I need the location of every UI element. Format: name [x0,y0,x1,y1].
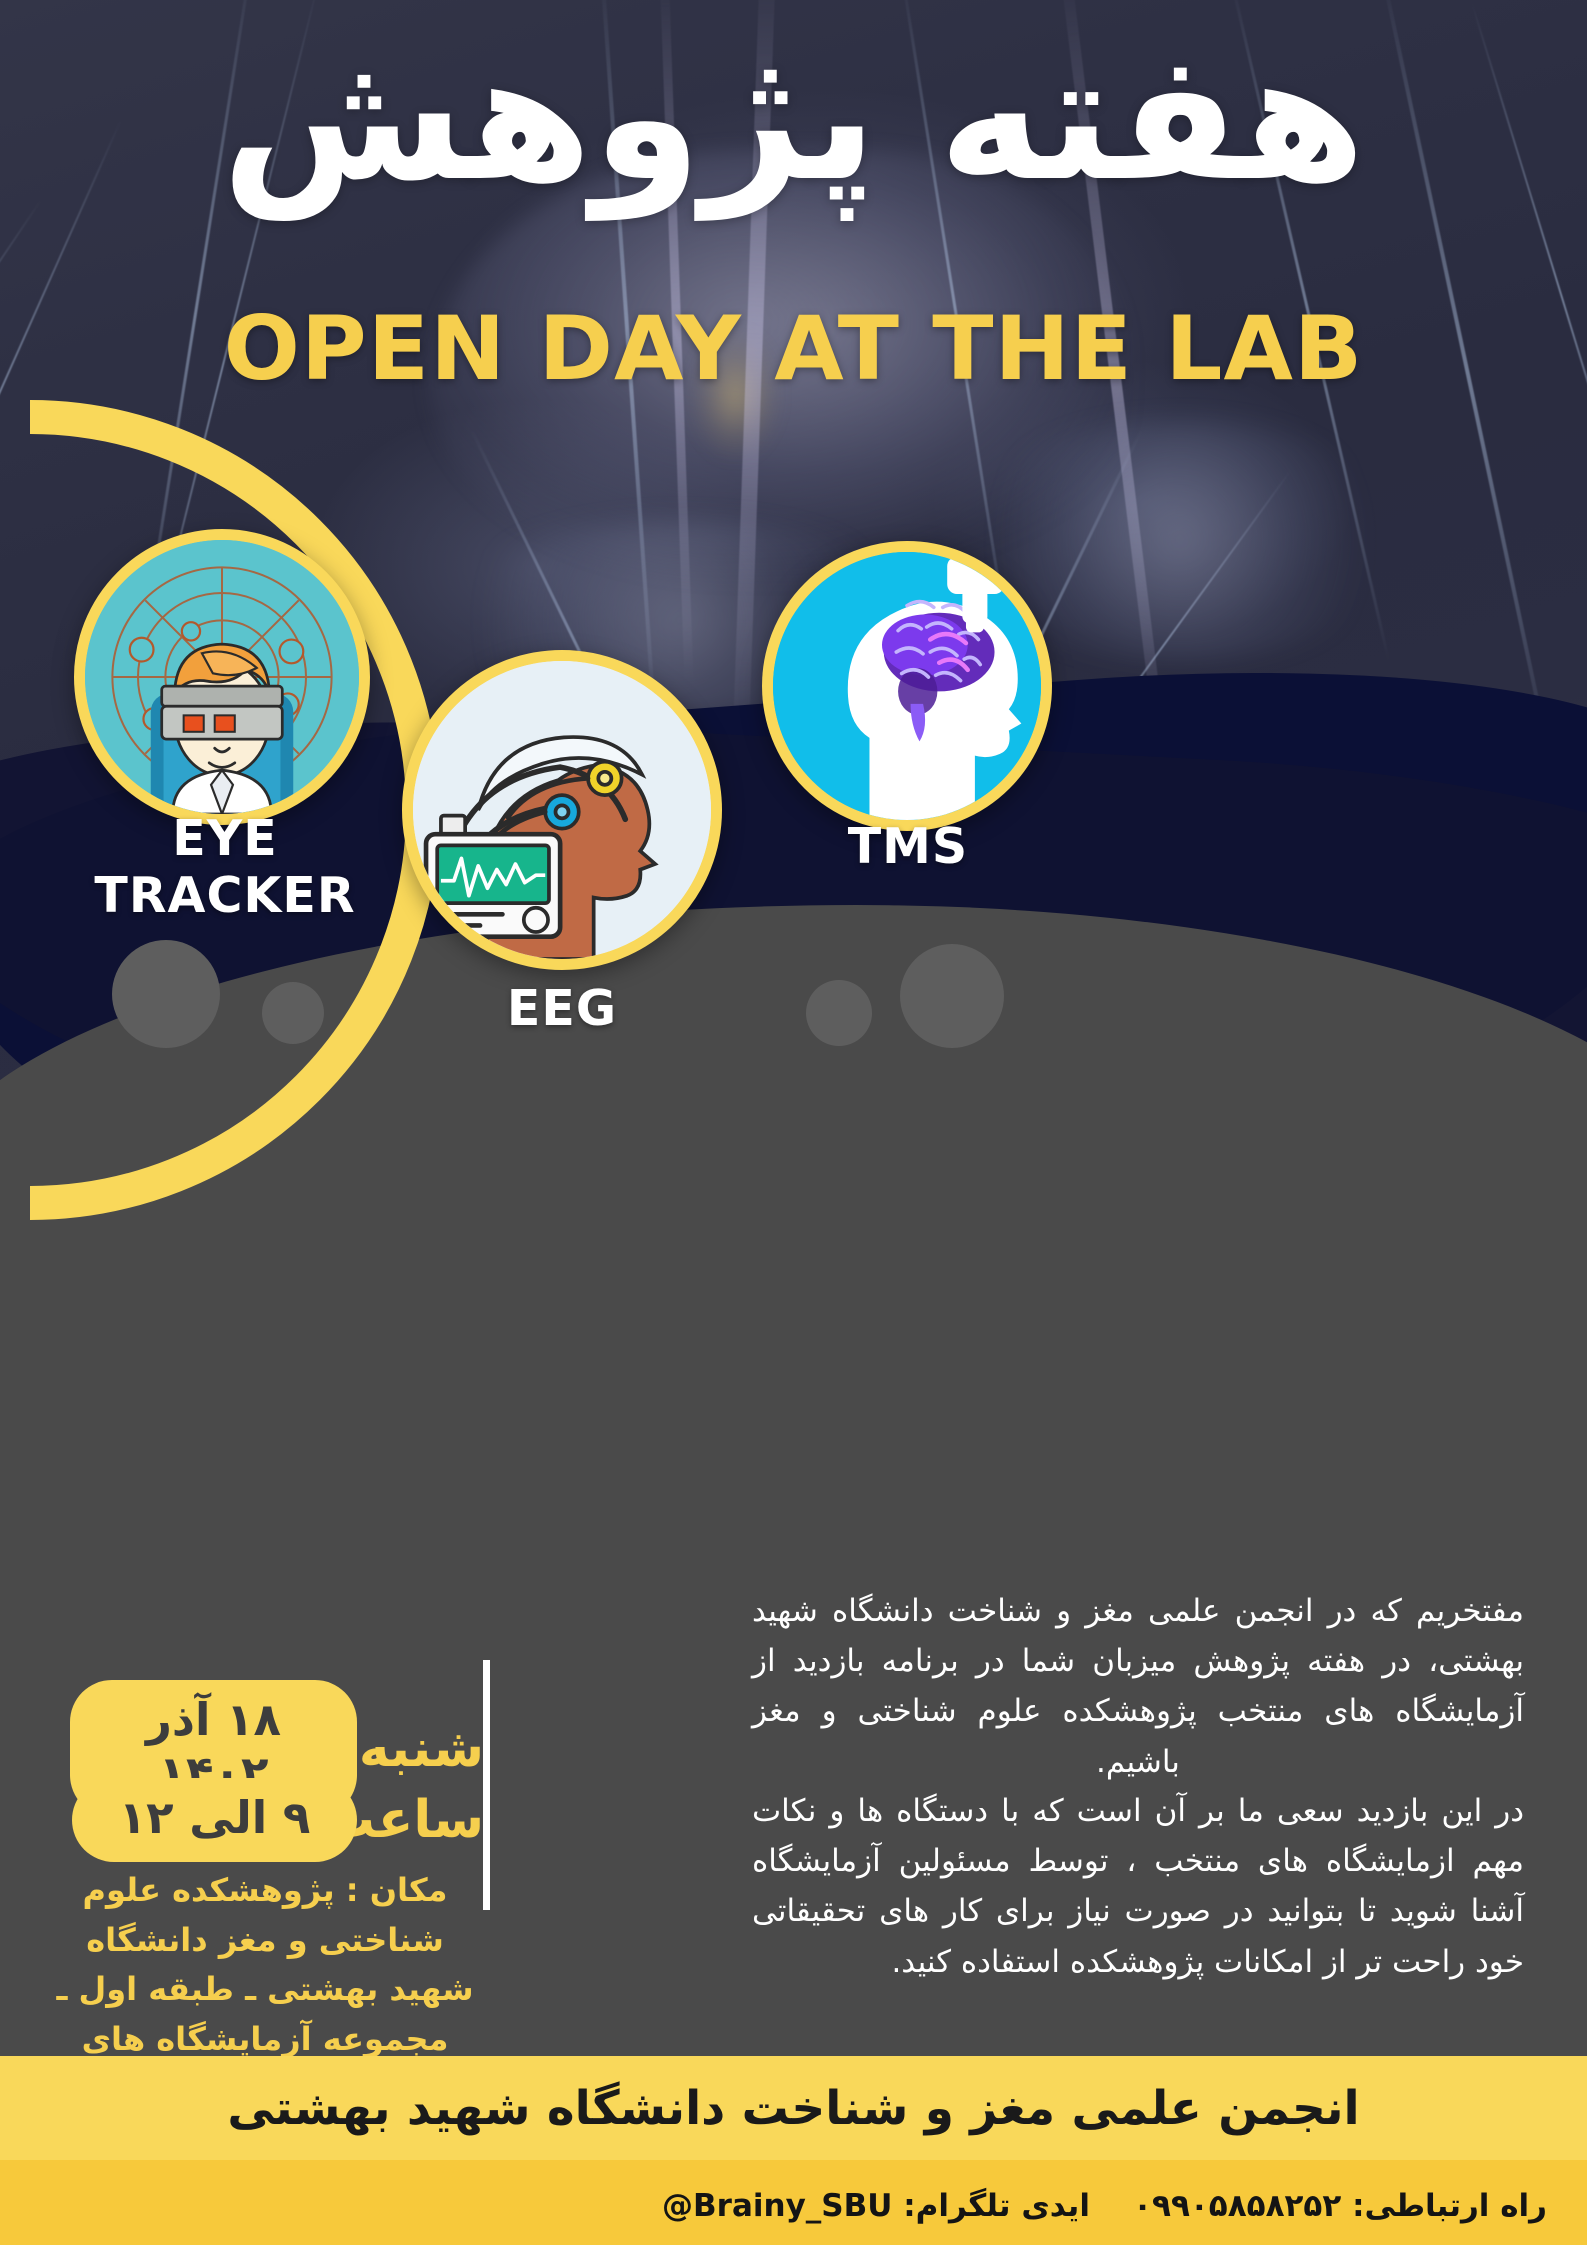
telegram-handle[interactable]: @Brainy_SBU [662,2188,892,2224]
eeg-icon [413,661,711,959]
footer-organization-text: انجمن علمی مغز و شناخت دانشگاه شهید بهشت… [227,2081,1359,2136]
page-title-fa: هفته پژوهش [0,26,1587,211]
bokeh-circle [900,944,1004,1048]
device-label-tms: TMS [762,818,1054,875]
device-circle-tms[interactable] [762,541,1052,831]
description-paragraph-1: مفتخریم که در انجمن علمی مغز و شناخت دان… [752,1586,1524,1787]
eye-tracker-icon [85,540,359,814]
page-subtitle-en: OPEN DAY AT THE LAB [0,305,1587,393]
device-circle-eye-tracker[interactable] [74,529,370,825]
bokeh-circle [112,940,220,1048]
description-paragraph-2: در این بازدید سعی ما بر آن است که با دست… [752,1786,1524,1987]
device-circle-eeg[interactable] [402,650,722,970]
bokeh-circle [806,980,872,1046]
schedule-time-value: ۹ الی ۱۲ [72,1778,357,1862]
footer-contact-band: راه ارتباطی: ۰۹۹۰۵۸۵۸۲۵۲ ایدی تلگرام: @B… [0,2160,1587,2245]
contact-info: راه ارتباطی: ۰۹۹۰۵۸۵۸۲۵۲ ایدی تلگرام: @B… [662,2188,1547,2224]
device-label-eye-tracker: EYE TRACKER [70,810,380,924]
telegram-label: ایدی تلگرام: [903,2188,1090,2224]
schedule-time-row: ساعت ۹ الی ۱۲ [70,1778,490,1862]
contact-label: راه ارتباطی: [1352,2188,1547,2224]
tms-icon [773,552,1041,820]
footer-organization-band: انجمن علمی مغز و شناخت دانشگاه شهید بهشت… [0,2056,1587,2160]
device-label-eeg: EEG [402,980,722,1037]
schedule-time-label: ساعت [375,1790,490,1850]
poster-root: هفته پژوهش OPEN DAY AT THE LAB [0,0,1587,2245]
schedule-day-label: شنبه [375,1719,490,1779]
contact-phone: ۰۹۹۰۵۸۵۸۲۵۲ [1133,2188,1341,2224]
bokeh-circle [262,982,324,1044]
